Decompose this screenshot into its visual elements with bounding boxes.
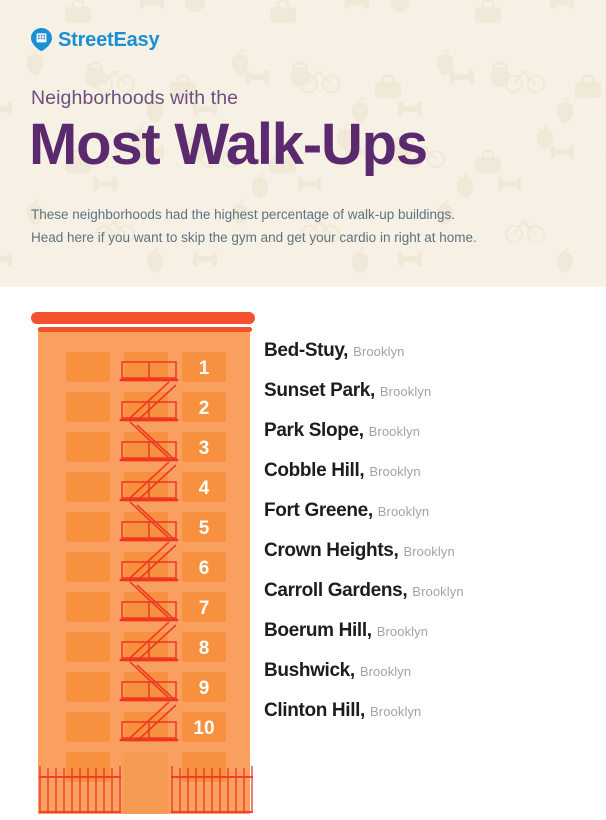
borough-name: Brooklyn — [377, 624, 428, 639]
borough-name: Brooklyn — [412, 584, 463, 599]
borough-name: Brooklyn — [370, 704, 421, 719]
neighborhood-name: Cobble Hill, — [264, 460, 364, 482]
header-kicker: Neighborhoods with the — [31, 87, 238, 110]
list-item[interactable]: Sunset Park, Brooklyn — [264, 380, 594, 420]
list-item[interactable]: Bed-Stuy, Brooklyn — [264, 340, 594, 380]
neighborhood-name: Bushwick, — [264, 660, 355, 682]
list-item[interactable]: Crown Heights, Brooklyn — [264, 540, 594, 580]
neighborhood-name: Fort Greene, — [264, 500, 373, 522]
rank-number-3: 3 — [199, 438, 210, 459]
subtitle-line-1: These neighborhoods had the highest perc… — [31, 203, 477, 226]
rank-number-8: 8 — [199, 638, 210, 659]
building-cornice-top — [31, 312, 255, 324]
brand-name: StreetEasy — [58, 30, 159, 50]
borough-name: Brooklyn — [369, 464, 420, 479]
list-item[interactable]: Fort Greene, Brooklyn — [264, 500, 594, 540]
neighborhood-ranked-list: Bed-Stuy, Brooklyn Sunset Park, Brooklyn… — [264, 340, 594, 740]
window-column-left — [66, 352, 110, 782]
rank-number-10: 10 — [193, 718, 214, 739]
rank-number-2: 2 — [199, 398, 210, 419]
subtitle-line-2: Head here if you want to skip the gym an… — [31, 226, 477, 249]
streeteasy-logo[interactable]: StreetEasy — [31, 28, 159, 51]
list-item[interactable]: Bushwick, Brooklyn — [264, 660, 594, 700]
list-item[interactable]: Park Slope, Brooklyn — [264, 420, 594, 460]
list-item[interactable]: Carroll Gardens, Brooklyn — [264, 580, 594, 620]
borough-name: Brooklyn — [380, 384, 431, 399]
rank-number-4: 4 — [199, 478, 210, 499]
borough-name: Brooklyn — [353, 344, 404, 359]
list-item[interactable]: Boerum Hill, Brooklyn — [264, 620, 594, 660]
walk-up-building-illustration: 1 2 3 4 5 6 7 8 9 10 — [26, 300, 258, 820]
borough-name: Brooklyn — [369, 424, 420, 439]
borough-name: Brooklyn — [403, 544, 454, 559]
rank-number-9: 9 — [199, 678, 210, 699]
building-entrance-door — [124, 752, 168, 814]
neighborhood-name: Carroll Gardens, — [264, 580, 407, 602]
neighborhood-name: Crown Heights, — [264, 540, 398, 562]
list-item[interactable]: Cobble Hill, Brooklyn — [264, 460, 594, 500]
page-title: Most Walk-Ups — [29, 113, 427, 178]
neighborhood-name: Park Slope, — [264, 420, 364, 442]
rank-number-6: 6 — [199, 558, 210, 579]
rank-number-1: 1 — [199, 358, 210, 379]
neighborhood-name: Bed-Stuy, — [264, 340, 348, 362]
header-banner: StreetEasy Neighborhoods with the Most W… — [0, 0, 606, 287]
map-pin-building-icon — [31, 28, 52, 51]
borough-name: Brooklyn — [360, 664, 411, 679]
rank-number-7: 7 — [199, 598, 210, 619]
neighborhood-name: Sunset Park, — [264, 380, 375, 402]
borough-name: Brooklyn — [378, 504, 429, 519]
list-item[interactable]: Clinton Hill, Brooklyn — [264, 700, 594, 740]
neighborhood-name: Clinton Hill, — [264, 700, 365, 722]
header-subtitle: These neighborhoods had the highest perc… — [31, 203, 477, 249]
rank-number-5: 5 — [199, 518, 210, 539]
neighborhood-name: Boerum Hill, — [264, 620, 372, 642]
building-cornice-band — [38, 327, 252, 332]
